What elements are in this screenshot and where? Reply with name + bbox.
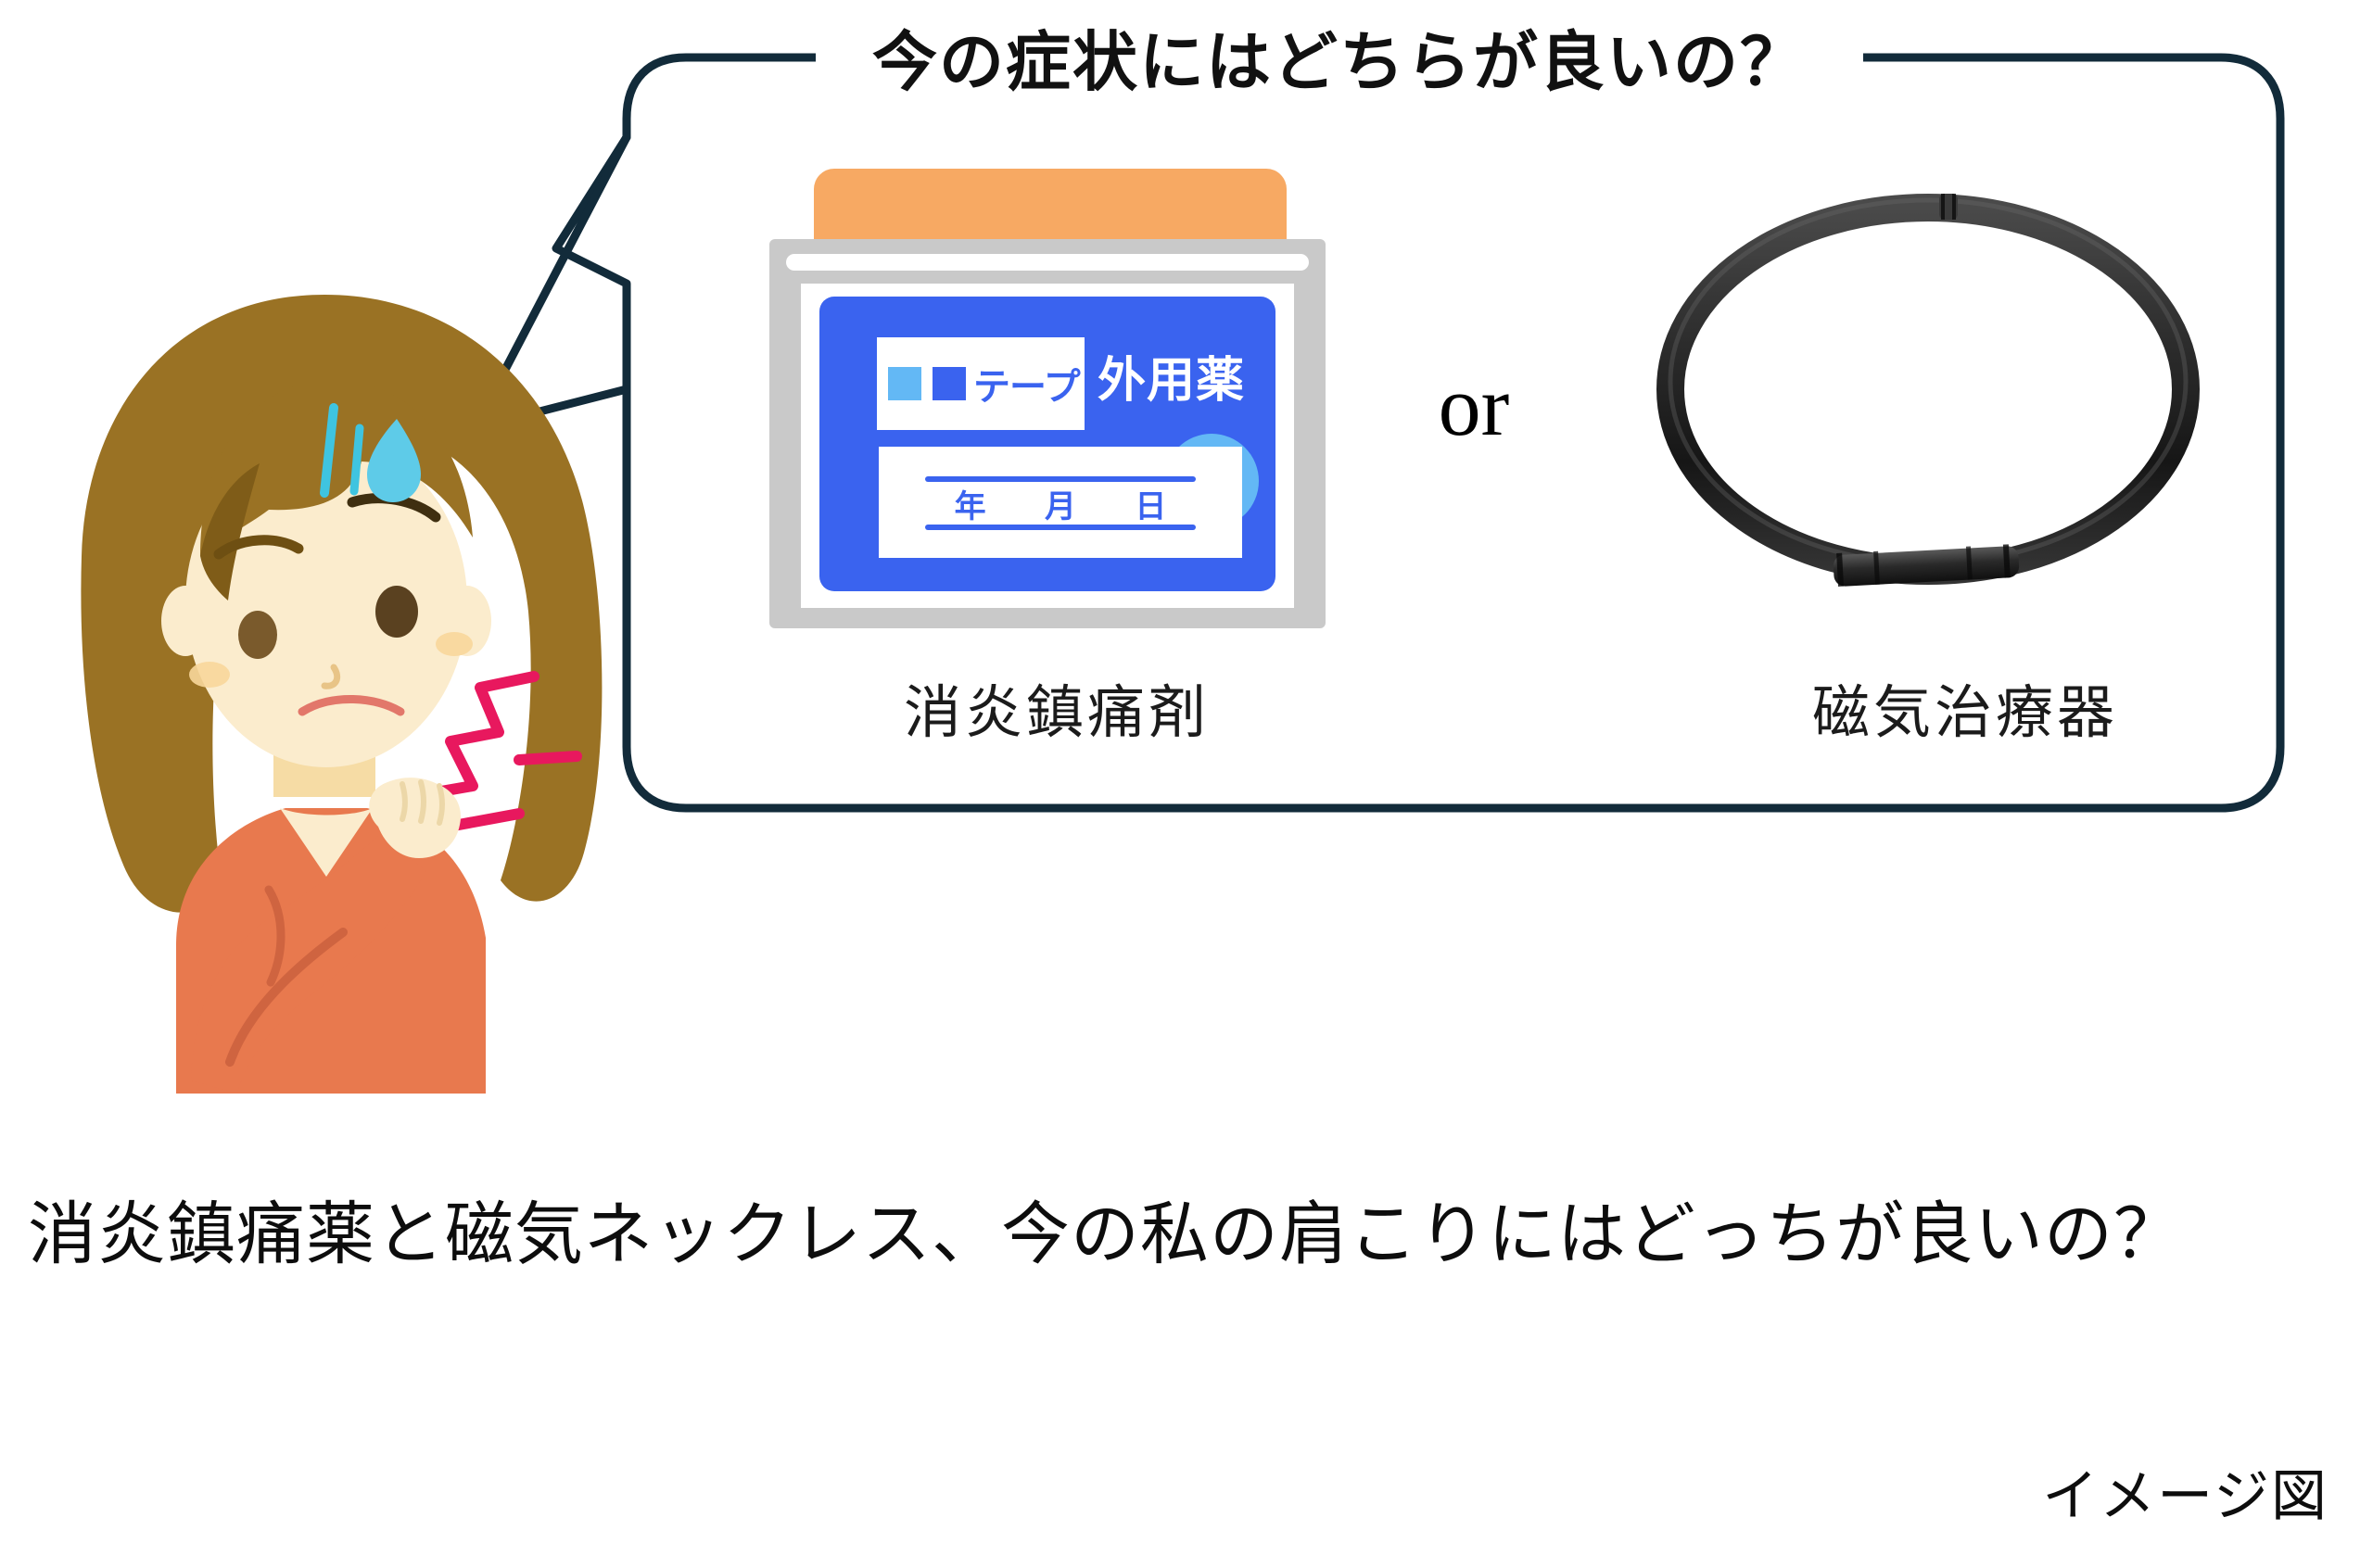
package-date-field: 年 月 日 — [879, 447, 1242, 558]
finger-line-1 — [402, 784, 405, 819]
image-note: イメージ図 — [2042, 1451, 2329, 1532]
caption-text: 消炎鎮痛薬と磁気ネックレス、今の私の肩こりにはどっちが良いの？ — [28, 1179, 2345, 1278]
medicine-package: テープ 外用薬 枚入 年 月 日 — [769, 167, 1326, 630]
cheek-left — [189, 662, 230, 688]
finger-line-3 — [439, 786, 442, 823]
package-blue-panel: テープ 外用薬 枚入 年 月 日 — [819, 297, 1275, 591]
necklace-top-ring — [1939, 194, 1958, 220]
date-rule-bottom — [925, 525, 1196, 530]
or-separator: or — [1363, 363, 1585, 449]
medicine-label: 消炎鎮痛剤 — [769, 665, 1344, 749]
sweat-line-2 — [354, 428, 360, 491]
package-tray: テープ 外用薬 枚入 年 月 日 — [769, 239, 1326, 628]
package-face: テープ 外用薬 枚入 年 月 日 — [801, 284, 1294, 608]
date-day-label: 日 — [1135, 481, 1166, 526]
illustration-canvas: 今の症状にはどちらが良いの？ テープ 外用薬 枚入 年 — [0, 0, 2373, 1568]
worried-woman-illustration — [37, 278, 612, 1094]
finger-line-2 — [421, 782, 424, 821]
package-category-text: 外用薬 — [1098, 341, 1245, 411]
pain-line-icon — [519, 756, 577, 760]
eye-left — [238, 611, 277, 659]
bubble-title: 今の症状にはどちらが良いの？ — [816, 17, 1863, 96]
date-year-label: 年 — [955, 481, 986, 526]
brand-square-dark-icon — [933, 367, 966, 400]
eye-right — [375, 586, 418, 638]
necklace-band — [1670, 208, 2186, 571]
package-top-stripe — [786, 254, 1309, 271]
brand-text: テープ — [973, 357, 1080, 411]
brand-square-light-icon — [888, 367, 921, 400]
package-brand-bar: テープ — [877, 337, 1085, 430]
date-labels: 年 月 日 — [925, 482, 1196, 525]
necklace-highlight — [1670, 200, 2186, 563]
magnetic-necklace — [1641, 185, 2215, 593]
magnetic-label: 磁気治療器 — [1678, 665, 2252, 749]
ear-left — [161, 586, 209, 656]
cheek-right — [436, 632, 473, 656]
date-month-label: 月 — [1045, 481, 1076, 526]
